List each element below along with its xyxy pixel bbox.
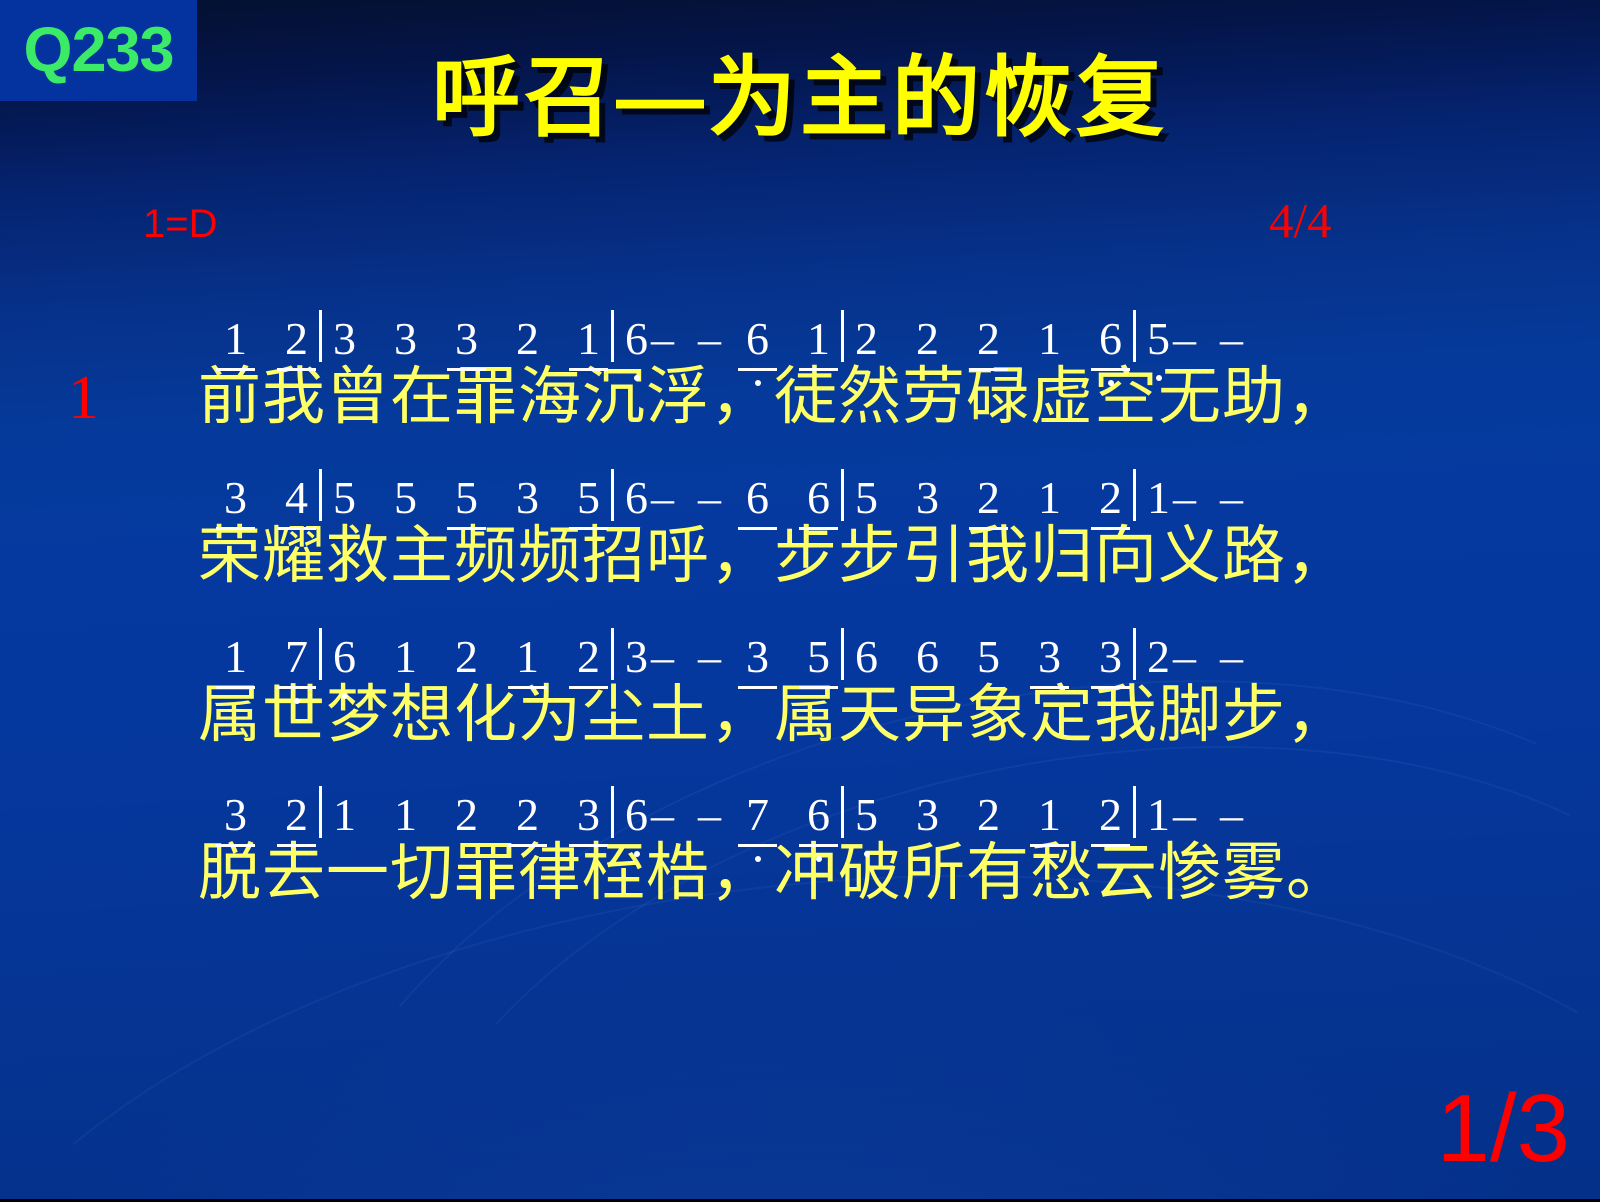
note-glyph: 3 [333, 316, 356, 362]
note-2: 2 [1097, 475, 1124, 521]
note-glyph: 2 [977, 792, 1000, 838]
barline [611, 628, 614, 680]
note-glyph: 6 [625, 316, 648, 362]
note-glyph: 4 [285, 475, 308, 521]
note-glyph: 5 [394, 475, 417, 521]
note-glyph: 3 [455, 316, 478, 362]
notation-row: 17612123––35665332–– [198, 618, 1358, 680]
note-glyph: 3 [1038, 634, 1061, 680]
note-2: 2 [975, 475, 1002, 521]
note-glyph: 1 [394, 634, 417, 680]
note-glyph: 2 [855, 316, 878, 362]
note-glyph: 1 [1147, 792, 1170, 838]
barline [319, 310, 322, 362]
notation-row: 32112236––76532121–– [198, 776, 1358, 838]
note-6-low-octave: 6 [623, 316, 650, 362]
hymn-code-text: Q233 [23, 19, 173, 82]
notation-row: 12333216––61222165–– [198, 300, 1358, 362]
barline [841, 786, 844, 838]
note-1: 1 [331, 792, 358, 838]
music-stanza: 32112236––76532121––脱去一切罪律桎梏，冲破所有愁云惨雾。 [198, 776, 1358, 907]
note-glyph: 3 [746, 634, 769, 680]
note-2: 2 [283, 792, 310, 838]
barline [611, 310, 614, 362]
note-glyph: 3 [916, 792, 939, 838]
note-glyph: 5 [855, 475, 878, 521]
time-signature: 4/4 [1269, 196, 1332, 245]
note-6: 6 [744, 475, 771, 521]
note-3: 3 [1036, 634, 1063, 680]
note-glyph: 2 [916, 316, 939, 362]
note-glyph: 3 [224, 792, 247, 838]
note-glyph: 2 [1099, 475, 1122, 521]
barline [319, 469, 322, 521]
note-glyph: 3 [625, 634, 648, 680]
barline [1133, 786, 1136, 838]
note-6-low-octave: 6 [805, 792, 832, 838]
note-3: 3 [1097, 634, 1124, 680]
note-glyph: 2 [516, 316, 539, 362]
note-3: 3 [453, 316, 480, 362]
note-glyph: 3 [577, 792, 600, 838]
barline [1133, 628, 1136, 680]
note-1: 1 [1145, 792, 1172, 838]
note-glyph: 2 [1099, 792, 1122, 838]
note-5: 5 [331, 475, 358, 521]
page-title: 呼召—为主的恢复 [330, 52, 1270, 144]
music-stanza: 17612123––35665332––属世梦想化为尘土，属天异象定我脚步， [198, 618, 1358, 749]
note-glyph: 5 [977, 634, 1000, 680]
note-1: 1 [575, 316, 602, 362]
note-glyph: 2 [455, 634, 478, 680]
note-2: 2 [453, 634, 480, 680]
note-5-low-octave: 5 [1145, 316, 1172, 362]
sustain-dash: – [1172, 792, 1197, 838]
lyric-line: 前我曾在罪海沉浮，徒然劳碌虚空无助， [198, 364, 1358, 431]
sustain-dash: – [650, 475, 675, 521]
note-glyph: 7 [285, 634, 308, 680]
note-3: 3 [222, 475, 249, 521]
note-6: 6 [853, 634, 880, 680]
note-1: 1 [805, 316, 832, 362]
note-glyph: 3 [1099, 634, 1122, 680]
note-3: 3 [575, 792, 602, 838]
sustain-dash: – [697, 792, 722, 838]
note-1: 1 [222, 316, 249, 362]
note-glyph: 3 [916, 475, 939, 521]
note-glyph: 1 [516, 634, 539, 680]
note-5: 5 [392, 475, 419, 521]
note-glyph: 2 [285, 792, 308, 838]
note-glyph: 5 [455, 475, 478, 521]
key-signature: 1=D [143, 204, 218, 244]
note-2: 2 [914, 316, 941, 362]
note-5-low-octave: 5 [853, 792, 880, 838]
note-glyph: 6 [807, 475, 830, 521]
note-7-low-octave: 7 [283, 634, 310, 680]
note-glyph: 5 [333, 475, 356, 521]
note-glyph: 5 [855, 792, 878, 838]
note-2: 2 [975, 792, 1002, 838]
note-1: 1 [514, 634, 541, 680]
lyric-line: 荣耀救主频频招呼，步步引我归向义路， [198, 523, 1358, 590]
note-1: 1 [392, 634, 419, 680]
sustain-dash: – [650, 316, 675, 362]
barline [611, 469, 614, 521]
note-6-low-octave: 6 [1097, 316, 1124, 362]
lyric-line: 属世梦想化为尘土，属天异象定我脚步， [198, 682, 1358, 749]
sustain-dash: – [1172, 475, 1197, 521]
sustain-dash: – [650, 792, 675, 838]
note-glyph: 1 [1038, 316, 1061, 362]
sustain-dash: – [1219, 475, 1244, 521]
note-1: 1 [1036, 316, 1063, 362]
note-3: 3 [331, 316, 358, 362]
note-glyph: 6 [855, 634, 878, 680]
note-glyph: 2 [455, 792, 478, 838]
note-2: 2 [575, 634, 602, 680]
note-6: 6 [914, 634, 941, 680]
note-2: 2 [853, 316, 880, 362]
music-stanza: 12333216––61222165––前我曾在罪海沉浮，徒然劳碌虚空无助， [198, 300, 1358, 431]
barline [1133, 310, 1136, 362]
note-glyph: 1 [333, 792, 356, 838]
sustain-dash: – [697, 316, 722, 362]
note-3: 3 [914, 475, 941, 521]
note-5: 5 [453, 475, 480, 521]
sustain-dash: – [697, 634, 722, 680]
note-5: 5 [975, 634, 1002, 680]
sustain-dash: – [1219, 634, 1244, 680]
note-glyph: 6 [625, 792, 648, 838]
note-2: 2 [283, 316, 310, 362]
note-glyph: 6 [746, 316, 769, 362]
note-5: 5 [575, 475, 602, 521]
barline [1133, 469, 1136, 521]
note-glyph: 6 [916, 634, 939, 680]
note-2: 2 [514, 316, 541, 362]
note-glyph: 1 [1038, 475, 1061, 521]
note-2: 2 [1097, 792, 1124, 838]
note-1: 1 [1036, 792, 1063, 838]
note-3: 3 [514, 475, 541, 521]
music-stanza: 34555356––66532121––荣耀救主频频招呼，步步引我归向义路， [198, 459, 1358, 590]
note-3: 3 [623, 634, 650, 680]
note-6-low-octave: 6 [623, 792, 650, 838]
note-6-low-octave: 6 [744, 316, 771, 362]
note-glyph: 1 [394, 792, 417, 838]
sustain-dash: – [697, 475, 722, 521]
note-glyph: 6 [746, 475, 769, 521]
note-glyph: 7 [746, 792, 769, 838]
note-6: 6 [623, 475, 650, 521]
hymn-code-badge: Q233 [0, 0, 197, 101]
note-2: 2 [453, 792, 480, 838]
note-glyph: 3 [516, 475, 539, 521]
note-3: 3 [914, 792, 941, 838]
note-glyph: 2 [977, 316, 1000, 362]
barline [611, 786, 614, 838]
note-glyph: 5 [1147, 316, 1170, 362]
note-6: 6 [805, 475, 832, 521]
verse-number: 1 [68, 367, 99, 429]
page-indicator: 1/3 [1437, 1081, 1570, 1177]
note-1: 1 [222, 634, 249, 680]
note-6-low-octave: 6 [331, 634, 358, 680]
note-glyph: 2 [516, 792, 539, 838]
note-4: 4 [283, 475, 310, 521]
note-glyph: 1 [1147, 475, 1170, 521]
note-2: 2 [514, 792, 541, 838]
barline [841, 628, 844, 680]
note-glyph: 2 [577, 634, 600, 680]
note-3: 3 [222, 792, 249, 838]
barline [841, 310, 844, 362]
sustain-dash: – [1172, 316, 1197, 362]
note-1: 1 [392, 792, 419, 838]
note-glyph: 3 [224, 475, 247, 521]
note-glyph: 5 [807, 634, 830, 680]
note-glyph: 6 [625, 475, 648, 521]
note-glyph: 3 [394, 316, 417, 362]
sustain-dash: – [1172, 634, 1197, 680]
notation-row: 34555356––66532121–– [198, 459, 1358, 521]
note-5: 5 [805, 634, 832, 680]
note-glyph: 2 [977, 475, 1000, 521]
note-glyph: 1 [224, 634, 247, 680]
note-3: 3 [392, 316, 419, 362]
note-glyph: 1 [577, 316, 600, 362]
note-glyph: 2 [1147, 634, 1170, 680]
note-glyph: 6 [1099, 316, 1122, 362]
note-glyph: 6 [333, 634, 356, 680]
sustain-dash: – [1219, 316, 1244, 362]
note-glyph: 5 [577, 475, 600, 521]
sustain-dash: – [650, 634, 675, 680]
note-2: 2 [1145, 634, 1172, 680]
note-7-low-octave: 7 [744, 792, 771, 838]
sustain-dash: – [1219, 792, 1244, 838]
music-body: 12333216––61222165––前我曾在罪海沉浮，徒然劳碌虚空无助，34… [198, 300, 1358, 907]
lyric-line: 脱去一切罪律桎梏，冲破所有愁云惨雾。 [198, 840, 1358, 907]
barline [319, 628, 322, 680]
note-1: 1 [1145, 475, 1172, 521]
barline [319, 786, 322, 838]
hymn-slide: Q233 呼召—为主的恢复 1=D 4/4 1 12333216––612221… [0, 0, 1600, 1202]
note-glyph: 6 [807, 792, 830, 838]
note-5: 5 [853, 475, 880, 521]
note-glyph: 1 [807, 316, 830, 362]
note-3: 3 [744, 634, 771, 680]
barline [841, 469, 844, 521]
note-glyph: 1 [1038, 792, 1061, 838]
note-1: 1 [1036, 475, 1063, 521]
note-2: 2 [975, 316, 1002, 362]
note-glyph: 2 [285, 316, 308, 362]
note-glyph: 1 [224, 316, 247, 362]
